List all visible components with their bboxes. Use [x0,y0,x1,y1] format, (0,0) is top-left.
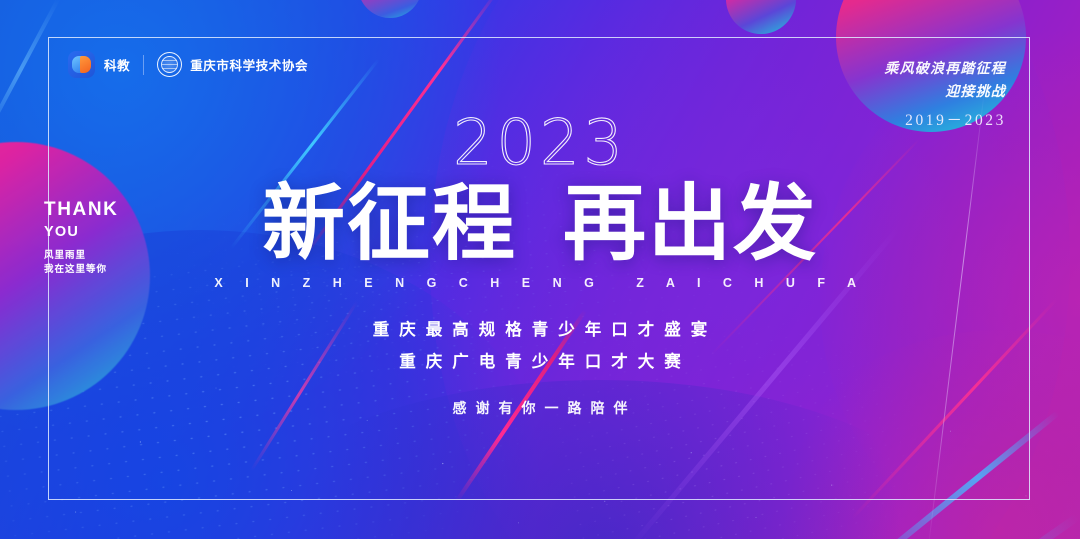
kejiao-logo-icon [68,51,95,78]
association-logo-label: 重庆市科学技术协会 [190,55,308,74]
slogan-year-range: 2019－2023 [884,108,1006,130]
headline-pinyin: X I N Z H E N G C H E N G Z A I C H U F … [0,276,1080,290]
thank-you-cn-line-1: 风里雨里 [44,249,119,264]
headline-right-text: 再出发 [563,180,818,267]
subtitle-line-1: 重庆最高规格青少年口才盛宴 [0,316,1080,340]
pinyin-right: Z A I C H U F A [636,276,865,290]
main-headline: 新征程 再出发 [0,180,1080,267]
header-logo-row: 科教 重庆市科学技术协会 [68,51,308,78]
kejiao-logo: 科教 [68,51,130,78]
thank-you-cn-line-2: 我在这里等你 [44,263,119,278]
logo-divider [143,55,144,75]
thank-you-title-line-2: YOU [44,224,119,240]
slogan-line-2: 迎接挑战 [884,81,1006,101]
top-right-slogan: 乘风破浪再踏征程 迎接挑战 2019－2023 [884,58,1006,130]
thank-you-title-line-1: THANK [44,200,119,221]
slogan-line-1: 乘风破浪再踏征程 [884,58,1006,78]
pinyin-left: X I N Z H E N G C H E N G [214,276,603,290]
gradient-sphere-top-center [358,0,422,18]
subtitle-line-2: 重庆广电青少年口才大赛 [0,348,1080,372]
kejiao-logo-label: 科教 [104,55,130,74]
headline-left-text: 新征程 [262,180,517,267]
poster-canvas: 科教 重庆市科学技术协会 乘风破浪再踏征程 迎接挑战 2019－2023 THA… [0,0,1080,539]
main-content-stack: 2023 新征程 再出发 X I N Z H E N G C H E N G Z… [0,112,1080,418]
gradient-sphere-top-right-small [726,0,796,34]
association-emblem-icon [157,52,182,77]
thank-you-block: THANK YOU 风里雨里 我在这里等你 [44,200,119,278]
association-logo: 重庆市科学技术协会 [157,52,308,77]
tagline-text: 感谢有你一路陪伴 [0,398,1080,418]
